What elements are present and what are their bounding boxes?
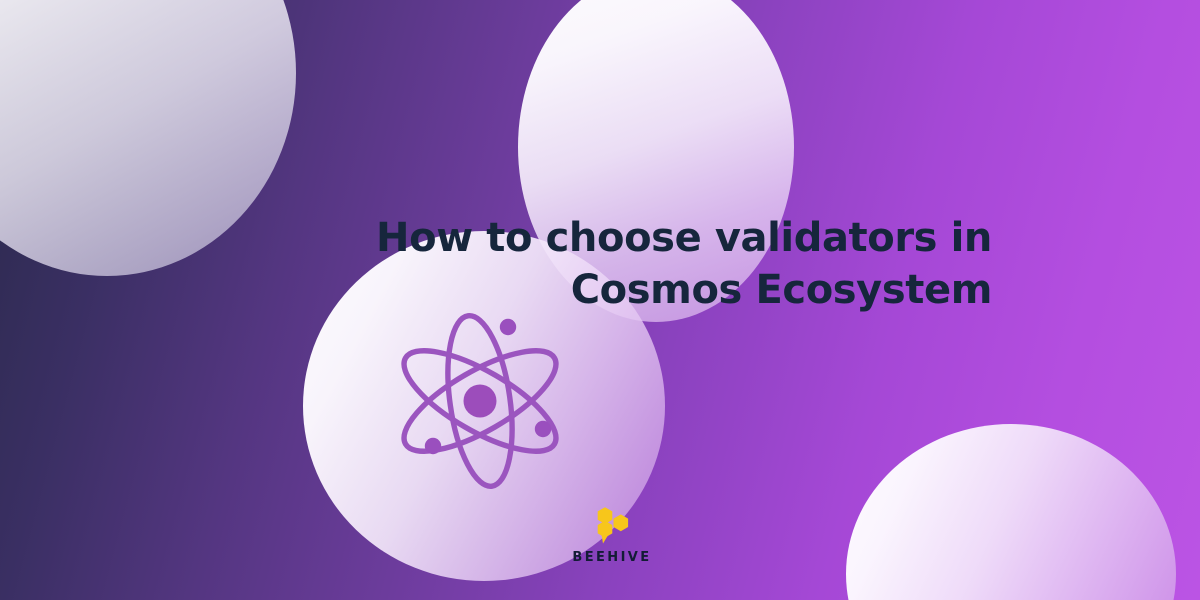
headline-line-2: Cosmos Ecosystem [300, 264, 992, 316]
decorative-circle-top-left [0, 0, 296, 276]
cosmos-validators-banner: How to choose validators in Cosmos Ecosy… [0, 0, 1200, 600]
decorative-circle-bottom-right [846, 424, 1176, 600]
brand-lockup: BEEHIVE [548, 503, 676, 565]
headline-line-1: How to choose validators in [300, 212, 992, 264]
brand-wordmark: BEEHIVE [548, 550, 676, 565]
cosmos-atom-icon [385, 311, 575, 491]
beehive-honeycomb-icon [590, 503, 634, 547]
page-title: How to choose validators in Cosmos Ecosy… [300, 212, 992, 316]
